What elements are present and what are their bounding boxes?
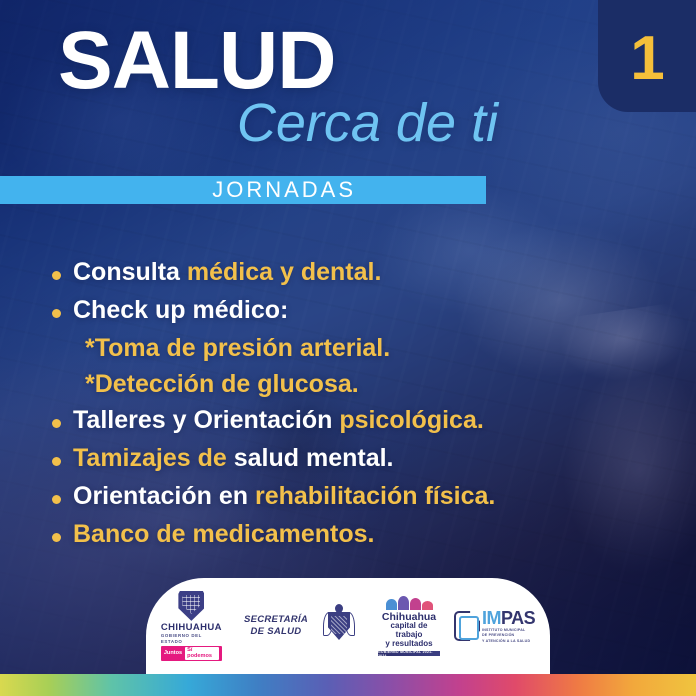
list-item: Banco de medicamentos. (52, 520, 652, 549)
list-item-highlight: Banco de medicamentos. (73, 520, 374, 548)
list-item-text: Banco de medicamentos. (73, 520, 374, 549)
headline-block: SALUD Cerca de ti (0, 22, 520, 150)
bullet-dot-icon (52, 533, 61, 542)
list-item: Check up médico: (52, 296, 652, 325)
list-item-plain: Check up médico: (73, 296, 288, 324)
list-item-text: Consulta médica y dental. (73, 258, 381, 287)
page-title: SALUD (0, 22, 520, 100)
footer-logo-panel: CHIHUAHUA GOBIERNO DEL ESTADO Juntos Sí … (146, 578, 550, 674)
secretaria-line1: SECRETARÍA (244, 614, 308, 626)
jornadas-band: JORNADAS (0, 176, 486, 204)
impas-lockup: IMPAS INSTITUTO MUNICIPAL DE PREVENCIÓN … (454, 609, 535, 643)
list-item: Consulta médica y dental. (52, 258, 652, 287)
gobierno-name: CHIHUAHUA (161, 623, 222, 633)
logo-gobierno-chihuahua: CHIHUAHUA GOBIERNO DEL ESTADO Juntos Sí … (154, 591, 229, 661)
peaks-icon (386, 596, 433, 610)
peak-3-icon (410, 598, 421, 610)
capital-line1: capital de trabajo (378, 622, 440, 640)
gobierno-tag-second: Sí podemos (185, 647, 219, 659)
list-item-highlight: médica y dental. (187, 258, 382, 286)
list-item: Orientación en rehabilitación física. (52, 482, 652, 511)
capital-bar: GOBIERNO MUNICIPAL 2021-2024 (378, 651, 440, 656)
impas-sub3: Y ATENCIÓN A LA SALUD (482, 639, 530, 643)
list-item-highlight: psicológica. (339, 406, 483, 434)
impas-name: IMPAS (482, 609, 535, 627)
list-item-plain: Talleres y Orientación (73, 406, 339, 434)
jornadas-label: JORNADAS (212, 177, 356, 203)
peak-2-icon (398, 596, 409, 610)
impas-name-dark: PAS (501, 608, 535, 628)
municipal-crest-icon (322, 604, 356, 648)
bullet-dot-icon (52, 271, 61, 280)
list-item-text: Check up médico: (73, 296, 288, 325)
capital-line2: y resultados (385, 640, 432, 649)
list-item-highlight: rehabilitación física. (255, 482, 495, 510)
list-item: Talleres y Orientación psicológica. (52, 406, 652, 435)
number-badge: 1 (598, 0, 696, 112)
number-badge-value: 1 (630, 28, 663, 90)
impas-sub2: DE PREVENCIÓN (482, 633, 514, 637)
crest-body-icon (328, 612, 350, 640)
list-item-tail: salud mental. (227, 444, 394, 472)
bullet-dot-icon (52, 309, 61, 318)
gobierno-tag-first: Juntos (164, 651, 182, 657)
list-item-plain: Orientación en (73, 482, 255, 510)
list-subitem-text: *Detección de glucosa. (85, 370, 359, 399)
logo-chihuahua-capital: Chihuahua capital de trabajo y resultado… (371, 596, 447, 656)
cross-inner-icon (459, 616, 479, 640)
bullet-dot-icon (52, 457, 61, 466)
list-item-text: Tamizajes de salud mental. (73, 444, 394, 473)
peak-1-icon (386, 599, 397, 610)
capital-bar-text: GOBIERNO MUNICIPAL 2021-2024 (378, 650, 440, 658)
list-item-text: Talleres y Orientación psicológica. (73, 406, 484, 435)
list-subitem: *Toma de presión arterial. (52, 334, 652, 363)
list-subitem: *Detección de glucosa. (52, 370, 652, 399)
crest-ornament-icon (335, 604, 343, 613)
list-item-plain: Consulta (73, 258, 187, 286)
impas-text-block: IMPAS INSTITUTO MUNICIPAL DE PREVENCIÓN … (482, 609, 535, 643)
rainbow-strip (0, 674, 696, 696)
logo-impas: IMPAS INSTITUTO MUNICIPAL DE PREVENCIÓN … (447, 609, 542, 643)
poster-root: 1 SALUD Cerca de ti JORNADAS Consulta mé… (0, 0, 696, 696)
medical-cross-icon (454, 611, 480, 641)
peak-4-icon (422, 601, 433, 610)
services-list: Consulta médica y dental. Check up médic… (52, 258, 652, 558)
shield-icon (178, 591, 204, 621)
impas-sub1: INSTITUTO MUNICIPAL (482, 628, 525, 632)
list-subitem-text: *Toma de presión arterial. (85, 334, 390, 363)
logo-municipio-chihuahua (315, 604, 363, 648)
impas-name-light: IM (482, 608, 501, 628)
gobierno-subtitle: GOBIERNO DEL ESTADO (161, 633, 222, 644)
list-item-text: Orientación en rehabilitación física. (73, 482, 495, 511)
gobierno-tagline: Juntos Sí podemos (161, 646, 222, 661)
list-item-highlight: Tamizajes de (73, 444, 227, 472)
logo-secretaria-de-salud: SECRETARÍA DE SALUD (237, 614, 315, 639)
bullet-dot-icon (52, 419, 61, 428)
bullet-dot-icon (52, 495, 61, 504)
secretaria-line2: DE SALUD (250, 626, 301, 638)
list-item: Tamizajes de salud mental. (52, 444, 652, 473)
